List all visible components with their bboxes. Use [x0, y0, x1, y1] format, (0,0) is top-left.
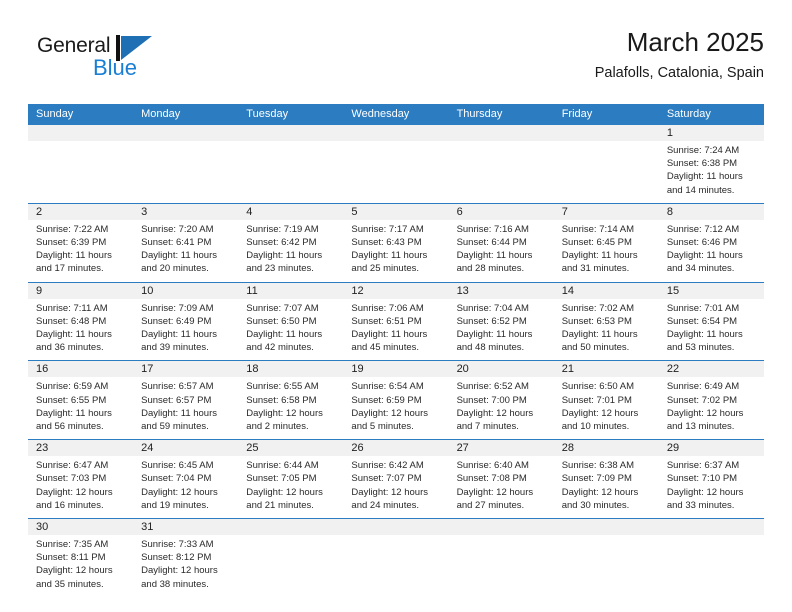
day-details: [343, 535, 448, 544]
day-number: 13: [449, 283, 554, 299]
daylight-text: Daylight: 11 hours and 34 minutes.: [667, 249, 758, 275]
calendar-page: General Blue March 2025 Palafolls, Catal…: [0, 0, 792, 612]
sunset-text: Sunset: 6:39 PM: [36, 236, 127, 249]
sunrise-text: Sunrise: 7:06 AM: [351, 302, 442, 315]
daylight-text: Daylight: 12 hours and 13 minutes.: [667, 407, 758, 433]
sunrise-text: Sunrise: 6:52 AM: [457, 380, 548, 393]
sunrise-text: Sunrise: 7:09 AM: [141, 302, 232, 315]
sunset-text: Sunset: 7:10 PM: [667, 472, 758, 485]
sunset-text: Sunset: 7:09 PM: [562, 472, 653, 485]
day-cell-empty: [238, 125, 343, 203]
day-details: Sunrise: 6:49 AMSunset: 7:02 PMDaylight:…: [659, 377, 764, 439]
day-details: Sunrise: 6:37 AMSunset: 7:10 PMDaylight:…: [659, 456, 764, 518]
day-cell[interactable]: 22Sunrise: 6:49 AMSunset: 7:02 PMDayligh…: [659, 361, 764, 439]
day-number: 25: [238, 440, 343, 456]
day-details: Sunrise: 7:12 AMSunset: 6:46 PMDaylight:…: [659, 220, 764, 282]
sunset-text: Sunset: 6:45 PM: [562, 236, 653, 249]
sunrise-text: Sunrise: 6:59 AM: [36, 380, 127, 393]
daylight-text: Daylight: 12 hours and 5 minutes.: [351, 407, 442, 433]
daylight-text: Daylight: 11 hours and 45 minutes.: [351, 328, 442, 354]
day-number: 20: [449, 361, 554, 377]
calendar-week-row: 23Sunrise: 6:47 AMSunset: 7:03 PMDayligh…: [28, 439, 764, 518]
day-details: Sunrise: 7:20 AMSunset: 6:41 PMDaylight:…: [133, 220, 238, 282]
sunset-text: Sunset: 7:03 PM: [36, 472, 127, 485]
weekday-header-saturday: Saturday: [659, 104, 764, 125]
day-number: 26: [343, 440, 448, 456]
daylight-text: Daylight: 11 hours and 14 minutes.: [667, 170, 758, 196]
day-cell-empty: [133, 125, 238, 203]
sunset-text: Sunset: 6:44 PM: [457, 236, 548, 249]
sunrise-text: Sunrise: 7:02 AM: [562, 302, 653, 315]
day-cell-empty: [659, 519, 764, 597]
day-number: 30: [28, 519, 133, 535]
day-cell[interactable]: 13Sunrise: 7:04 AMSunset: 6:52 PMDayligh…: [449, 283, 554, 361]
sunset-text: Sunset: 7:07 PM: [351, 472, 442, 485]
day-cell[interactable]: 6Sunrise: 7:16 AMSunset: 6:44 PMDaylight…: [449, 204, 554, 282]
day-number: 29: [659, 440, 764, 456]
sunrise-text: Sunrise: 7:07 AM: [246, 302, 337, 315]
calendar-week-row: 9Sunrise: 7:11 AMSunset: 6:48 PMDaylight…: [28, 282, 764, 361]
day-number: 9: [28, 283, 133, 299]
day-details: Sunrise: 7:19 AMSunset: 6:42 PMDaylight:…: [238, 220, 343, 282]
day-cell[interactable]: 1Sunrise: 7:24 AMSunset: 6:38 PMDaylight…: [659, 125, 764, 203]
sunset-text: Sunset: 6:54 PM: [667, 315, 758, 328]
sunset-text: Sunset: 6:52 PM: [457, 315, 548, 328]
daylight-text: Daylight: 11 hours and 56 minutes.: [36, 407, 127, 433]
sunrise-text: Sunrise: 6:57 AM: [141, 380, 232, 393]
day-number: [238, 125, 343, 141]
page-header: General Blue March 2025 Palafolls, Catal…: [28, 26, 764, 96]
day-cell[interactable]: 4Sunrise: 7:19 AMSunset: 6:42 PMDaylight…: [238, 204, 343, 282]
weekday-header-tuesday: Tuesday: [238, 104, 343, 125]
day-number: 17: [133, 361, 238, 377]
sunset-text: Sunset: 7:04 PM: [141, 472, 232, 485]
daylight-text: Daylight: 11 hours and 31 minutes.: [562, 249, 653, 275]
sunset-text: Sunset: 7:05 PM: [246, 472, 337, 485]
day-details: Sunrise: 7:24 AMSunset: 6:38 PMDaylight:…: [659, 141, 764, 203]
day-number: [343, 519, 448, 535]
day-number: 4: [238, 204, 343, 220]
daylight-text: Daylight: 11 hours and 48 minutes.: [457, 328, 548, 354]
day-number: 19: [343, 361, 448, 377]
weekday-header-monday: Monday: [133, 104, 238, 125]
daylight-text: Daylight: 12 hours and 21 minutes.: [246, 486, 337, 512]
day-number: 1: [659, 125, 764, 141]
day-details: Sunrise: 7:11 AMSunset: 6:48 PMDaylight:…: [28, 299, 133, 361]
sunrise-text: Sunrise: 6:50 AM: [562, 380, 653, 393]
page-title: March 2025: [595, 26, 764, 58]
daylight-text: Daylight: 11 hours and 20 minutes.: [141, 249, 232, 275]
day-cell[interactable]: 29Sunrise: 6:37 AMSunset: 7:10 PMDayligh…: [659, 440, 764, 518]
day-details: Sunrise: 6:54 AMSunset: 6:59 PMDaylight:…: [343, 377, 448, 439]
day-cell[interactable]: 19Sunrise: 6:54 AMSunset: 6:59 PMDayligh…: [343, 361, 448, 439]
page-subtitle: Palafolls, Catalonia, Spain: [595, 62, 764, 84]
sunrise-text: Sunrise: 7:11 AM: [36, 302, 127, 315]
day-cell-empty: [28, 125, 133, 203]
day-number: 2: [28, 204, 133, 220]
day-details: Sunrise: 6:50 AMSunset: 7:01 PMDaylight:…: [554, 377, 659, 439]
sunrise-text: Sunrise: 6:54 AM: [351, 380, 442, 393]
daylight-text: Daylight: 11 hours and 17 minutes.: [36, 249, 127, 275]
day-details: [238, 535, 343, 544]
sunset-text: Sunset: 6:57 PM: [141, 394, 232, 407]
sunrise-text: Sunrise: 6:49 AM: [667, 380, 758, 393]
daylight-text: Daylight: 12 hours and 38 minutes.: [141, 564, 232, 590]
sunrise-text: Sunrise: 7:19 AM: [246, 223, 337, 236]
day-cell[interactable]: 14Sunrise: 7:02 AMSunset: 6:53 PMDayligh…: [554, 283, 659, 361]
day-number: [238, 519, 343, 535]
title-block: March 2025 Palafolls, Catalonia, Spain: [595, 26, 764, 84]
day-cell-empty: [554, 519, 659, 597]
day-details: Sunrise: 7:17 AMSunset: 6:43 PMDaylight:…: [343, 220, 448, 282]
sunrise-text: Sunrise: 7:14 AM: [562, 223, 653, 236]
day-number: [343, 125, 448, 141]
sunset-text: Sunset: 6:58 PM: [246, 394, 337, 407]
day-number: 21: [554, 361, 659, 377]
day-cell[interactable]: 15Sunrise: 7:01 AMSunset: 6:54 PMDayligh…: [659, 283, 764, 361]
daylight-text: Daylight: 11 hours and 23 minutes.: [246, 249, 337, 275]
day-cell[interactable]: 23Sunrise: 6:47 AMSunset: 7:03 PMDayligh…: [28, 440, 133, 518]
day-number: [659, 519, 764, 535]
day-number: 22: [659, 361, 764, 377]
day-cell[interactable]: 8Sunrise: 7:12 AMSunset: 6:46 PMDaylight…: [659, 204, 764, 282]
day-details: Sunrise: 6:52 AMSunset: 7:00 PMDaylight:…: [449, 377, 554, 439]
day-cell-empty: [343, 125, 448, 203]
day-details: [238, 141, 343, 150]
day-details: Sunrise: 6:47 AMSunset: 7:03 PMDaylight:…: [28, 456, 133, 518]
day-cell[interactable]: 27Sunrise: 6:40 AMSunset: 7:08 PMDayligh…: [449, 440, 554, 518]
day-details: [343, 141, 448, 150]
sunrise-text: Sunrise: 7:16 AM: [457, 223, 548, 236]
sunset-text: Sunset: 6:48 PM: [36, 315, 127, 328]
day-cell-empty: [449, 519, 554, 597]
sunset-text: Sunset: 6:55 PM: [36, 394, 127, 407]
day-number: 10: [133, 283, 238, 299]
day-details: Sunrise: 6:59 AMSunset: 6:55 PMDaylight:…: [28, 377, 133, 439]
day-cell[interactable]: 30Sunrise: 7:35 AMSunset: 8:11 PMDayligh…: [28, 519, 133, 597]
daylight-text: Daylight: 12 hours and 19 minutes.: [141, 486, 232, 512]
daylight-text: Daylight: 12 hours and 16 minutes.: [36, 486, 127, 512]
daylight-text: Daylight: 11 hours and 36 minutes.: [36, 328, 127, 354]
day-cell[interactable]: 21Sunrise: 6:50 AMSunset: 7:01 PMDayligh…: [554, 361, 659, 439]
sunrise-text: Sunrise: 7:12 AM: [667, 223, 758, 236]
weekday-header-friday: Friday: [554, 104, 659, 125]
day-number: 23: [28, 440, 133, 456]
day-cell[interactable]: 16Sunrise: 6:59 AMSunset: 6:55 PMDayligh…: [28, 361, 133, 439]
day-details: Sunrise: 6:57 AMSunset: 6:57 PMDaylight:…: [133, 377, 238, 439]
calendar-grid: SundayMondayTuesdayWednesdayThursdayFrid…: [28, 104, 764, 597]
day-number: 27: [449, 440, 554, 456]
day-number: 16: [28, 361, 133, 377]
sunset-text: Sunset: 8:12 PM: [141, 551, 232, 564]
day-details: Sunrise: 6:45 AMSunset: 7:04 PMDaylight:…: [133, 456, 238, 518]
day-details: [28, 141, 133, 150]
day-number: 14: [554, 283, 659, 299]
day-cell[interactable]: 17Sunrise: 6:57 AMSunset: 6:57 PMDayligh…: [133, 361, 238, 439]
sunset-text: Sunset: 6:43 PM: [351, 236, 442, 249]
daylight-text: Daylight: 11 hours and 25 minutes.: [351, 249, 442, 275]
sunset-text: Sunset: 7:02 PM: [667, 394, 758, 407]
sunset-text: Sunset: 6:59 PM: [351, 394, 442, 407]
day-number: 28: [554, 440, 659, 456]
sunset-text: Sunset: 6:46 PM: [667, 236, 758, 249]
calendar-week-row: 2Sunrise: 7:22 AMSunset: 6:39 PMDaylight…: [28, 203, 764, 282]
day-cell[interactable]: 24Sunrise: 6:45 AMSunset: 7:04 PMDayligh…: [133, 440, 238, 518]
sunset-text: Sunset: 6:42 PM: [246, 236, 337, 249]
day-details: [133, 141, 238, 150]
day-details: Sunrise: 6:40 AMSunset: 7:08 PMDaylight:…: [449, 456, 554, 518]
day-number: 31: [133, 519, 238, 535]
day-details: [659, 535, 764, 544]
day-number: 6: [449, 204, 554, 220]
day-cell[interactable]: 26Sunrise: 6:42 AMSunset: 7:07 PMDayligh…: [343, 440, 448, 518]
day-number: [449, 125, 554, 141]
day-cell[interactable]: 25Sunrise: 6:44 AMSunset: 7:05 PMDayligh…: [238, 440, 343, 518]
day-cell[interactable]: 5Sunrise: 7:17 AMSunset: 6:43 PMDaylight…: [343, 204, 448, 282]
daylight-text: Daylight: 11 hours and 50 minutes.: [562, 328, 653, 354]
sunrise-text: Sunrise: 7:01 AM: [667, 302, 758, 315]
sunrise-text: Sunrise: 7:17 AM: [351, 223, 442, 236]
day-number: [449, 519, 554, 535]
day-number: 5: [343, 204, 448, 220]
day-details: Sunrise: 7:16 AMSunset: 6:44 PMDaylight:…: [449, 220, 554, 282]
general-blue-logo[interactable]: General Blue: [37, 34, 167, 86]
sunrise-text: Sunrise: 7:22 AM: [36, 223, 127, 236]
logo-text-blue: Blue: [93, 55, 137, 81]
day-cell[interactable]: 2Sunrise: 7:22 AMSunset: 6:39 PMDaylight…: [28, 204, 133, 282]
calendar-week-row: 16Sunrise: 6:59 AMSunset: 6:55 PMDayligh…: [28, 360, 764, 439]
daylight-text: Daylight: 12 hours and 30 minutes.: [562, 486, 653, 512]
daylight-text: Daylight: 11 hours and 42 minutes.: [246, 328, 337, 354]
day-number: 24: [133, 440, 238, 456]
daylight-text: Daylight: 12 hours and 24 minutes.: [351, 486, 442, 512]
day-details: Sunrise: 7:01 AMSunset: 6:54 PMDaylight:…: [659, 299, 764, 361]
sunrise-text: Sunrise: 6:47 AM: [36, 459, 127, 472]
sunrise-text: Sunrise: 6:38 AM: [562, 459, 653, 472]
daylight-text: Daylight: 11 hours and 59 minutes.: [141, 407, 232, 433]
sunset-text: Sunset: 7:08 PM: [457, 472, 548, 485]
day-number: [554, 125, 659, 141]
calendar-weeks: 1Sunrise: 7:24 AMSunset: 6:38 PMDaylight…: [28, 125, 764, 597]
sunrise-text: Sunrise: 6:44 AM: [246, 459, 337, 472]
sunrise-text: Sunrise: 7:24 AM: [667, 144, 758, 157]
day-details: [449, 535, 554, 544]
weekday-header-thursday: Thursday: [449, 104, 554, 125]
day-details: [554, 535, 659, 544]
sunrise-text: Sunrise: 7:33 AM: [141, 538, 232, 551]
sunrise-text: Sunrise: 6:55 AM: [246, 380, 337, 393]
day-number: 12: [343, 283, 448, 299]
day-cell[interactable]: 12Sunrise: 7:06 AMSunset: 6:51 PMDayligh…: [343, 283, 448, 361]
day-details: Sunrise: 7:14 AMSunset: 6:45 PMDaylight:…: [554, 220, 659, 282]
sunset-text: Sunset: 6:38 PM: [667, 157, 758, 170]
day-details: [449, 141, 554, 150]
sunrise-text: Sunrise: 6:42 AM: [351, 459, 442, 472]
day-cell[interactable]: 9Sunrise: 7:11 AMSunset: 6:48 PMDaylight…: [28, 283, 133, 361]
sunrise-text: Sunrise: 6:37 AM: [667, 459, 758, 472]
sunset-text: Sunset: 6:53 PM: [562, 315, 653, 328]
weekday-header-sunday: Sunday: [28, 104, 133, 125]
day-cell-empty: [343, 519, 448, 597]
daylight-text: Daylight: 12 hours and 7 minutes.: [457, 407, 548, 433]
day-number: 8: [659, 204, 764, 220]
day-cell-empty: [449, 125, 554, 203]
sunrise-text: Sunrise: 6:40 AM: [457, 459, 548, 472]
day-details: Sunrise: 7:06 AMSunset: 6:51 PMDaylight:…: [343, 299, 448, 361]
sunset-text: Sunset: 7:01 PM: [562, 394, 653, 407]
day-details: Sunrise: 7:07 AMSunset: 6:50 PMDaylight:…: [238, 299, 343, 361]
weekday-header-wednesday: Wednesday: [343, 104, 448, 125]
day-details: Sunrise: 7:04 AMSunset: 6:52 PMDaylight:…: [449, 299, 554, 361]
day-cell[interactable]: 20Sunrise: 6:52 AMSunset: 7:00 PMDayligh…: [449, 361, 554, 439]
day-details: [554, 141, 659, 150]
day-details: Sunrise: 6:42 AMSunset: 7:07 PMDaylight:…: [343, 456, 448, 518]
day-details: Sunrise: 7:33 AMSunset: 8:12 PMDaylight:…: [133, 535, 238, 597]
day-details: Sunrise: 7:02 AMSunset: 6:53 PMDaylight:…: [554, 299, 659, 361]
day-cell-empty: [238, 519, 343, 597]
day-number: 18: [238, 361, 343, 377]
sunrise-text: Sunrise: 6:45 AM: [141, 459, 232, 472]
day-cell[interactable]: 31Sunrise: 7:33 AMSunset: 8:12 PMDayligh…: [133, 519, 238, 597]
day-number: [133, 125, 238, 141]
day-cell-empty: [554, 125, 659, 203]
day-number: [28, 125, 133, 141]
day-cell[interactable]: 11Sunrise: 7:07 AMSunset: 6:50 PMDayligh…: [238, 283, 343, 361]
sunrise-text: Sunrise: 7:04 AM: [457, 302, 548, 315]
day-details: Sunrise: 6:44 AMSunset: 7:05 PMDaylight:…: [238, 456, 343, 518]
sunset-text: Sunset: 8:11 PM: [36, 551, 127, 564]
weekday-header-row: SundayMondayTuesdayWednesdayThursdayFrid…: [28, 104, 764, 125]
daylight-text: Daylight: 12 hours and 27 minutes.: [457, 486, 548, 512]
day-cell[interactable]: 10Sunrise: 7:09 AMSunset: 6:49 PMDayligh…: [133, 283, 238, 361]
daylight-text: Daylight: 12 hours and 35 minutes.: [36, 564, 127, 590]
day-cell[interactable]: 7Sunrise: 7:14 AMSunset: 6:45 PMDaylight…: [554, 204, 659, 282]
calendar-week-row: 30Sunrise: 7:35 AMSunset: 8:11 PMDayligh…: [28, 518, 764, 597]
day-number: 3: [133, 204, 238, 220]
daylight-text: Daylight: 12 hours and 33 minutes.: [667, 486, 758, 512]
daylight-text: Daylight: 12 hours and 2 minutes.: [246, 407, 337, 433]
day-cell[interactable]: 18Sunrise: 6:55 AMSunset: 6:58 PMDayligh…: [238, 361, 343, 439]
daylight-text: Daylight: 12 hours and 10 minutes.: [562, 407, 653, 433]
daylight-text: Daylight: 11 hours and 53 minutes.: [667, 328, 758, 354]
day-number: 11: [238, 283, 343, 299]
calendar-week-row: 1Sunrise: 7:24 AMSunset: 6:38 PMDaylight…: [28, 125, 764, 203]
day-details: Sunrise: 7:22 AMSunset: 6:39 PMDaylight:…: [28, 220, 133, 282]
day-number: 15: [659, 283, 764, 299]
sunrise-text: Sunrise: 7:35 AM: [36, 538, 127, 551]
day-number: [554, 519, 659, 535]
sunset-text: Sunset: 7:00 PM: [457, 394, 548, 407]
day-details: Sunrise: 7:35 AMSunset: 8:11 PMDaylight:…: [28, 535, 133, 597]
day-details: Sunrise: 6:55 AMSunset: 6:58 PMDaylight:…: [238, 377, 343, 439]
daylight-text: Daylight: 11 hours and 39 minutes.: [141, 328, 232, 354]
sunrise-text: Sunrise: 7:20 AM: [141, 223, 232, 236]
day-cell[interactable]: 28Sunrise: 6:38 AMSunset: 7:09 PMDayligh…: [554, 440, 659, 518]
sunset-text: Sunset: 6:51 PM: [351, 315, 442, 328]
sunset-text: Sunset: 6:41 PM: [141, 236, 232, 249]
sunset-text: Sunset: 6:49 PM: [141, 315, 232, 328]
day-details: Sunrise: 7:09 AMSunset: 6:49 PMDaylight:…: [133, 299, 238, 361]
day-number: 7: [554, 204, 659, 220]
daylight-text: Daylight: 11 hours and 28 minutes.: [457, 249, 548, 275]
sunset-text: Sunset: 6:50 PM: [246, 315, 337, 328]
day-details: Sunrise: 6:38 AMSunset: 7:09 PMDaylight:…: [554, 456, 659, 518]
day-cell[interactable]: 3Sunrise: 7:20 AMSunset: 6:41 PMDaylight…: [133, 204, 238, 282]
